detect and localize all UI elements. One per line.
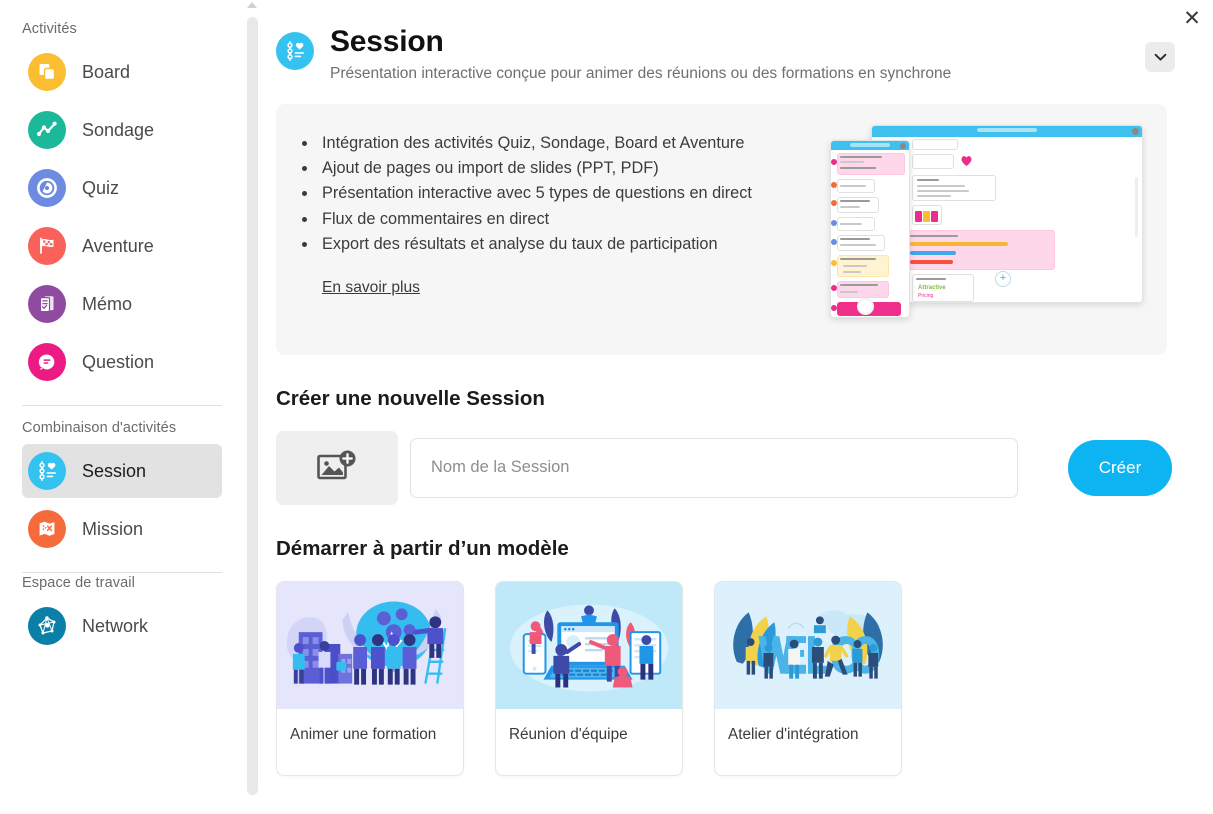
memo-icon	[28, 285, 66, 323]
sidebar-list-espace: Network	[0, 599, 244, 653]
quiz-icon	[28, 169, 66, 207]
sidebar-item-label: Mémo	[82, 294, 132, 315]
main-panel: ✕ Session Présentation interactive conçu…	[244, 0, 1213, 814]
preview-add-icon: +	[995, 271, 1011, 287]
preview-window-front	[830, 140, 910, 318]
sidebar-item-sondage[interactable]: Sondage	[22, 103, 222, 157]
info-panel: Intégration des activités Quiz, Sondage,…	[276, 104, 1167, 355]
template-card-atelier-dintegration[interactable]: Atelier d'intégration	[714, 581, 902, 776]
sidebar-divider-2	[22, 572, 222, 573]
question-icon	[28, 343, 66, 381]
session-icon	[28, 452, 66, 490]
preview-window-back: Attractive Pricing +	[871, 125, 1143, 303]
network-icon	[28, 607, 66, 645]
chevron-down-icon[interactable]	[1145, 42, 1175, 72]
sidebar-item-label: Sondage	[82, 120, 154, 141]
template-card-label: Animer une formation	[277, 709, 463, 744]
sidebar-section-title-combinaison: Combinaison d'activités	[0, 420, 244, 436]
poll-icon	[28, 111, 66, 149]
sidebar-item-label: Aventure	[82, 236, 154, 257]
sidebar-section-title-espace: Espace de travail	[0, 575, 244, 591]
header-text-block: Session Présentation interactive conçue …	[330, 26, 951, 83]
sidebar-section-title-activites: Activités	[0, 0, 244, 37]
session-name-input[interactable]	[410, 438, 1018, 498]
training-illustration	[277, 582, 463, 709]
sidebar-item-label: Network	[82, 616, 148, 637]
sidebar-item-memo[interactable]: Mémo	[22, 277, 222, 331]
sidebar-item-label: Question	[82, 352, 154, 373]
welcome-illustration	[715, 582, 901, 709]
template-card-list: Animer une formation	[276, 581, 1193, 776]
sidebar-item-aventure[interactable]: Aventure	[22, 219, 222, 273]
sidebar-item-mission[interactable]: Mission	[22, 502, 222, 556]
preview-window-titlebar	[872, 126, 1142, 137]
page-title: Session	[330, 26, 951, 58]
template-card-reunion-dequipe[interactable]: Réunion d'équipe	[495, 581, 683, 776]
sidebar-divider-1	[22, 405, 222, 406]
sidebar-item-board[interactable]: Board	[22, 45, 222, 99]
sidebar-item-network[interactable]: Network	[22, 599, 222, 653]
board-icon	[28, 53, 66, 91]
sidebar-item-label: Quiz	[82, 178, 119, 199]
session-preview-screenshot: Attractive Pricing +	[825, 112, 1145, 332]
template-card-label: Réunion d'équipe	[496, 709, 682, 744]
create-session-row: Créer	[276, 431, 1193, 505]
sidebar-item-label: Board	[82, 62, 130, 83]
template-card-label: Atelier d'intégration	[715, 709, 901, 744]
templates-section-title: Démarrer à partir d’un modèle	[276, 537, 1193, 561]
learn-more-link[interactable]: En savoir plus	[322, 279, 420, 297]
template-card-animer-une-formation[interactable]: Animer une formation	[276, 581, 464, 776]
sidebar-item-question[interactable]: Question	[22, 335, 222, 389]
sidebar-item-session[interactable]: Session	[22, 444, 222, 498]
sidebar-item-label: Session	[82, 461, 146, 482]
sidebar-list-combinaison: Session Mission	[0, 444, 244, 556]
sidebar-list-activites: Board Sondage	[0, 45, 244, 389]
sidebar-item-quiz[interactable]: Quiz	[22, 161, 222, 215]
page-header: Session Présentation interactive conçue …	[258, 0, 1193, 83]
sidebar-item-label: Mission	[82, 519, 143, 540]
team-meeting-illustration	[496, 582, 682, 709]
adventure-icon	[28, 227, 66, 265]
create-button[interactable]: Créer	[1068, 440, 1172, 496]
mission-icon	[28, 510, 66, 548]
sidebar: Activités Board	[0, 0, 244, 814]
create-section-title: Créer une nouvelle Session	[276, 387, 1193, 411]
add-image-icon[interactable]	[276, 431, 398, 505]
session-icon	[276, 32, 314, 70]
page-subtitle: Présentation interactive conçue pour ani…	[330, 65, 951, 83]
preview-window-titlebar	[831, 141, 909, 150]
